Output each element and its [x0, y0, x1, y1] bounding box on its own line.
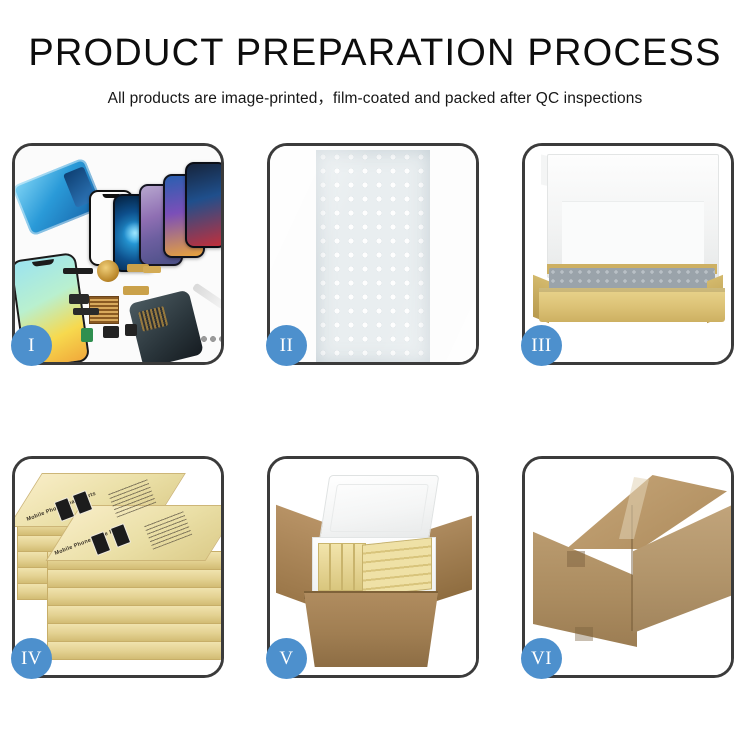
yellow-box-shape-1 [318, 543, 330, 591]
step-badge-3: III [521, 325, 562, 366]
stacked-box-front-3 [47, 587, 221, 606]
step-numeral-6: VI [531, 648, 552, 670]
step-5-image-frame [270, 459, 476, 675]
stacked-box-front-4 [47, 605, 221, 624]
flex-cable-shape-7 [125, 324, 137, 336]
page-title: PRODUCT PREPARATION PROCESS [0, 34, 750, 72]
foam-lid-open-shape [319, 475, 440, 543]
flex-cable-shape-4 [69, 294, 89, 304]
process-step-card-6: VI [522, 456, 734, 678]
step-1-image-frame [15, 146, 221, 362]
kraft-box-front-shape [539, 288, 725, 322]
stacked-box-front-6 [47, 641, 221, 660]
carton-tab-shape-1 [567, 551, 585, 567]
page-subtitle: All products are image-printed，film-coat… [0, 86, 750, 108]
flex-cable-shape-8 [81, 328, 93, 342]
carton-front-shape [304, 593, 438, 667]
step-badge-4: IV [11, 638, 52, 679]
stacked-box-front-2 [47, 569, 221, 588]
step-numeral-4: IV [21, 648, 42, 670]
carton-tab-shape-2 [575, 627, 593, 641]
step-badge-6: VI [521, 638, 562, 679]
carton-with-foam-box-photo [270, 459, 476, 675]
flex-cable-shape-6 [103, 326, 119, 338]
open-kraft-box-with-foam-photo [525, 146, 731, 362]
stacked-box-front-5 [47, 623, 221, 642]
white-foam-lid-shape [547, 154, 719, 278]
step-numeral-5: V [279, 648, 293, 670]
yellow-box-shape-2 [330, 543, 342, 591]
phone-screens-and-spare-parts-photo [15, 146, 221, 362]
product-preparation-page: PRODUCT PREPARATION PROCESS All products… [0, 0, 750, 750]
process-step-card-5: V [267, 456, 479, 678]
yellow-box-shape-3 [342, 543, 354, 591]
process-step-card-4: Mobile Phone Spare Parts Mobile Phone Sp… [12, 456, 224, 678]
step-numeral-3: III [531, 335, 551, 357]
flex-cable-shape-5 [73, 308, 99, 315]
step-badge-1: I [11, 325, 52, 366]
step-badge-5: V [266, 638, 307, 679]
bubble-wrap-shape [316, 150, 430, 362]
step-3-image-frame [525, 146, 731, 362]
flex-cable-shape-1 [63, 268, 93, 274]
step-numeral-1: I [28, 335, 35, 357]
sealed-shipping-carton-photo [525, 459, 731, 675]
step-badge-2: II [266, 325, 307, 366]
step-4-image-frame: Mobile Phone Spare Parts Mobile Phone Sp… [15, 459, 221, 675]
step-6-image-frame [525, 459, 731, 675]
copper-coil-shape [97, 260, 119, 282]
step-numeral-2: II [280, 335, 294, 357]
screwdriver-shape [192, 283, 221, 310]
box-stack-shape: Mobile Phone Spare Parts Mobile Phone Sp… [15, 459, 221, 675]
process-step-grid: I II [12, 143, 738, 678]
screws-shape [201, 334, 221, 344]
flex-cable-shape-9 [143, 266, 161, 273]
process-step-card-1: I [12, 143, 224, 365]
red-screen-shape [185, 162, 221, 248]
step-2-image-frame [270, 146, 476, 362]
process-step-card-2: II [267, 143, 479, 365]
stacked-printed-boxes-photo: Mobile Phone Spare Parts Mobile Phone Sp… [15, 459, 221, 675]
process-step-card-3: III [522, 143, 734, 365]
flex-cable-shape-3 [123, 286, 149, 295]
page-header: PRODUCT PREPARATION PROCESS All products… [0, 0, 750, 108]
yellow-box-row-shape [362, 537, 432, 596]
phone-backplate-shape [128, 289, 204, 362]
bubble-wrapped-screen-photo [270, 146, 476, 362]
